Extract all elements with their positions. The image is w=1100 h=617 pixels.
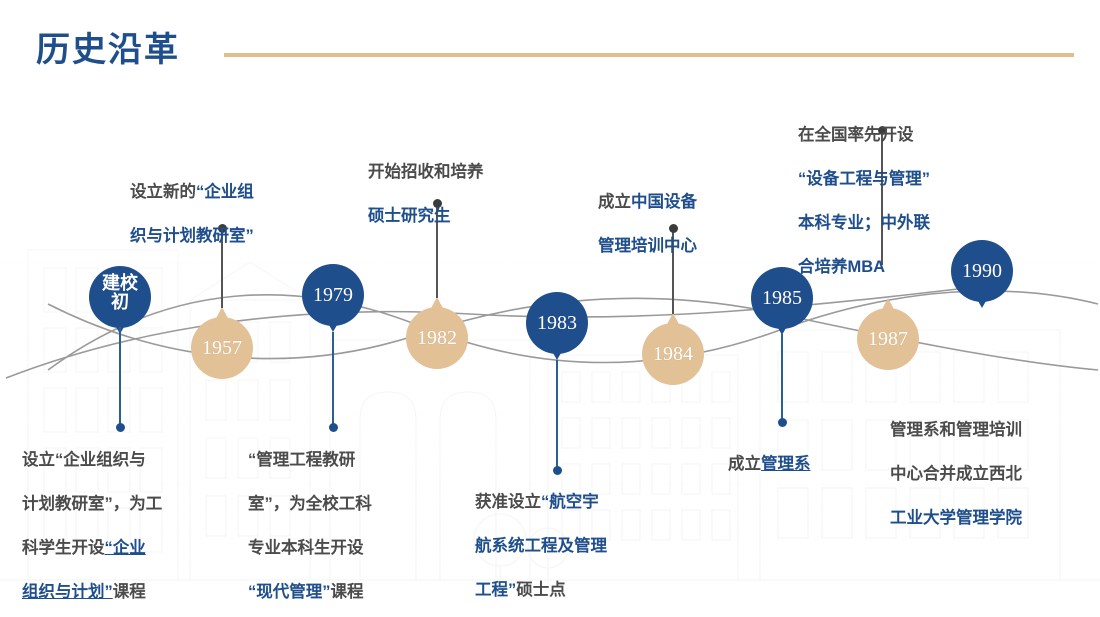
pin-label-1979: 1979 (293, 285, 373, 305)
stem-1983 (556, 360, 558, 470)
callout-text-line: 专业本科生开设 (248, 539, 364, 557)
callout-text-line: 获准设立 (475, 493, 541, 511)
pin-tip-blue (316, 302, 350, 332)
callout-1982: 开始招收和培养 硕士研究生 (368, 140, 548, 228)
stem-dot-1985 (778, 418, 787, 427)
stem-1979 (332, 332, 334, 427)
callout-text-line: 硕士点 (516, 581, 566, 599)
pin-label-1983: 1983 (517, 313, 597, 333)
callout-text-line: 室”，为全校工科 (248, 495, 372, 513)
pin-label-jianxiaochu: 建校 初 (80, 274, 160, 312)
callout-emphasis: 工程” (475, 581, 516, 599)
callout-1957: 设立新的“企业组 织与计划教研室” (130, 160, 326, 248)
page-title: 历史沿革 (36, 22, 180, 71)
callout-1987: 管理系和管理培训 中心合并成立西北 工业大学管理学院 (890, 398, 1080, 530)
callout-text-line: “管理工程教研 (248, 451, 355, 469)
callout-emphasis: 合培养MBA (798, 258, 885, 276)
stem-jianxiaochu (119, 327, 121, 427)
callout-text-line: 开始招收和培养 (368, 163, 484, 181)
slide-canvas: 历史沿革 建校 初 设立“企业组织与 计划教研室”，为工 科学生开设“企业 组织… (0, 0, 1100, 617)
pin-label-1982: 1982 (397, 328, 477, 348)
callout-emphasis: “企业组 (196, 183, 254, 201)
callout-text-line: 在全国率先开设 (798, 126, 914, 144)
callout-1985: 成立管理系 (728, 432, 898, 476)
callout-text-line: 课程 (113, 583, 146, 601)
title-underline-rule (224, 53, 1074, 57)
callout-text-line: 科学生开设 (22, 539, 105, 557)
callout-emphasis: “设备工程与管理” (798, 170, 930, 188)
pin-label-line2: 初 (111, 292, 129, 312)
pin-tip-blue (540, 330, 574, 360)
callout-text-line: 成立 (598, 193, 631, 211)
callout-emphasis: 工业大学管理学院 (890, 509, 1022, 527)
callout-1983: 获准设立“航空宇 航系统工程及管理 工程”硕士点 (475, 470, 665, 602)
callout-text-line: 管理系和管理培训 (890, 421, 1022, 439)
pin-label-1985: 1985 (742, 288, 822, 308)
callout-text-line: 设立新的 (130, 183, 196, 201)
callout-text-line: 设立“企业组织与 (22, 451, 146, 469)
callout-emphasis: 组织与计划” (22, 583, 113, 601)
callout-emphasis: 织与计划教研室” (130, 227, 254, 245)
callout-jianxiaochu: 设立“企业组织与 计划教研室”，为工 科学生开设“企业 组织与计划”课程 (22, 428, 222, 604)
callout-emphasis: “企业 (105, 539, 146, 557)
callout-emphasis: 航系统工程及管理 (475, 537, 607, 555)
stem-1985 (781, 334, 783, 422)
callout-emphasis: 管理系 (761, 455, 811, 473)
callout-emphasis: “现代管理” (248, 583, 331, 601)
pin-tip-blue (965, 278, 999, 308)
callout-emphasis: 硕士研究生 (368, 207, 451, 225)
callout-text-line: 课程 (331, 583, 364, 601)
pin-label-1957: 1957 (182, 338, 262, 358)
callout-text-line: 成立 (728, 455, 761, 473)
pin-tip-blue (765, 305, 799, 335)
callout-emphasis: 管理培训中心 (598, 237, 697, 255)
callout-emphasis: 本科专业；中外联 (798, 214, 930, 232)
callout-1979: “管理工程教研 室”，为全校工科 专业本科生开设 “现代管理”课程 (248, 428, 438, 604)
callout-text-line: 计划教研室”，为工 (22, 495, 162, 513)
pin-label-1990: 1990 (942, 261, 1022, 281)
callout-1990: 在全国率先开设 “设备工程与管理” 本科专业；中外联 合培养MBA (798, 103, 998, 279)
callout-1984: 成立中国设备 管理培训中心 (598, 170, 768, 258)
pin-label-line1: 建校 (102, 273, 138, 293)
callout-emphasis: “航空宇 (541, 493, 599, 511)
callout-text-line: 中心合并成立西北 (890, 465, 1022, 483)
pin-label-1987: 1987 (848, 329, 928, 349)
pin-label-1984: 1984 (633, 344, 713, 364)
callout-emphasis: 中国设备 (631, 193, 697, 211)
